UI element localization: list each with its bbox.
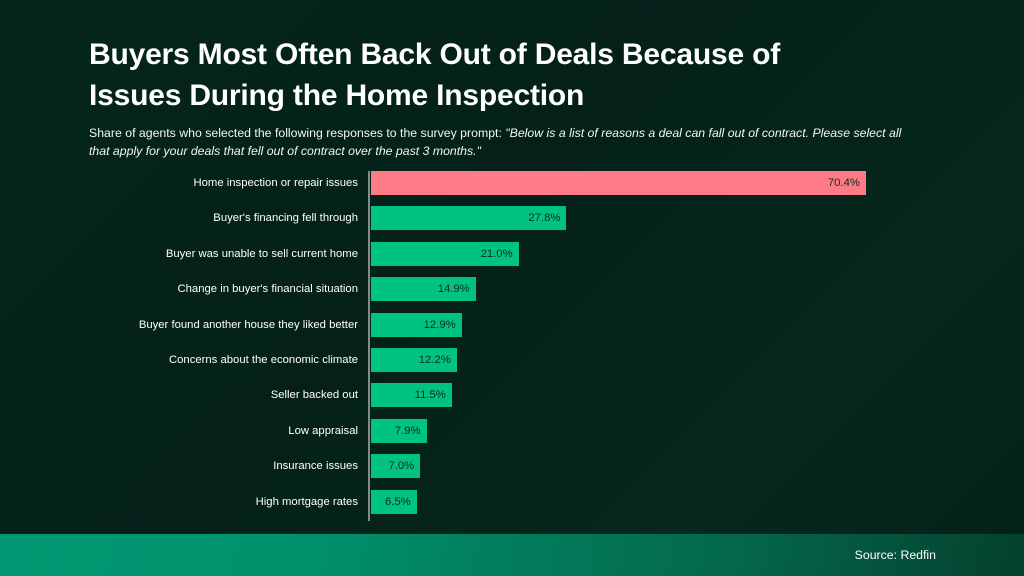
source-label: Source: Redfin [855,534,936,576]
bar-category-label: Seller backed out [38,383,358,407]
bar-value-label: 27.8% [528,206,560,230]
bar-row: Concerns about the economic climate12.2% [0,348,1024,372]
bar-category-label: Buyer found another house they liked bet… [38,313,358,337]
bar[interactable]: 6.5% [371,490,417,514]
bar-row: Buyer's financing fell through27.8% [0,206,1024,230]
bar-value-label: 6.5% [385,490,411,514]
footer-band: Source: Redfin [0,534,1024,576]
bar-value-label: 70.4% [828,171,860,195]
bar-category-label: Home inspection or repair issues [38,171,358,195]
bar[interactable]: 12.2% [371,348,457,372]
bar-row: High mortgage rates6.5% [0,490,1024,514]
bar-value-label: 12.9% [424,313,456,337]
bar[interactable]: 12.9% [371,313,462,337]
bar[interactable]: 21.0% [371,242,519,266]
bar-row: Buyer found another house they liked bet… [0,313,1024,337]
bar-row: Home inspection or repair issues70.4% [0,171,1024,195]
bar-category-label: Concerns about the economic climate [38,348,358,372]
bar-row: Change in buyer's financial situation14.… [0,277,1024,301]
bar-row: Buyer was unable to sell current home21.… [0,242,1024,266]
bar-value-label: 7.9% [395,419,421,443]
bar-row: Seller backed out11.5% [0,383,1024,407]
bar-value-label: 11.5% [415,383,446,407]
bar-row: Insurance issues7.0% [0,454,1024,478]
bar-value-label: 14.9% [438,277,470,301]
bar[interactable]: 7.0% [371,454,420,478]
bar[interactable]: 27.8% [371,206,566,230]
bar-category-label: Change in buyer's financial situation [38,277,358,301]
chart-subtitle: Share of agents who selected the followi… [89,125,919,160]
bar[interactable]: 11.5% [371,383,452,407]
bar-category-label: Insurance issues [38,454,358,478]
bar-category-label: Low appraisal [38,419,358,443]
bar[interactable]: 70.4% [371,171,866,195]
bar[interactable]: 14.9% [371,277,476,301]
bar-category-label: Buyer's financing fell through [38,206,358,230]
bar-value-label: 7.0% [388,454,414,478]
bar-value-label: 21.0% [481,242,513,266]
bar-category-label: High mortgage rates [38,490,358,514]
bar[interactable]: 7.9% [371,419,427,443]
bar-category-label: Buyer was unable to sell current home [38,242,358,266]
chart-header: Buyers Most Often Back Out of Deals Beca… [89,34,949,160]
bar-value-label: 12.2% [419,348,451,372]
bar-chart-plot: Home inspection or repair issues70.4%Buy… [0,171,1024,523]
page-title: Buyers Most Often Back Out of Deals Beca… [89,34,949,116]
bar-row: Low appraisal7.9% [0,419,1024,443]
chart-slide: Buyers Most Often Back Out of Deals Beca… [0,0,1024,576]
subtitle-lead: Share of agents who selected the followi… [89,126,505,140]
